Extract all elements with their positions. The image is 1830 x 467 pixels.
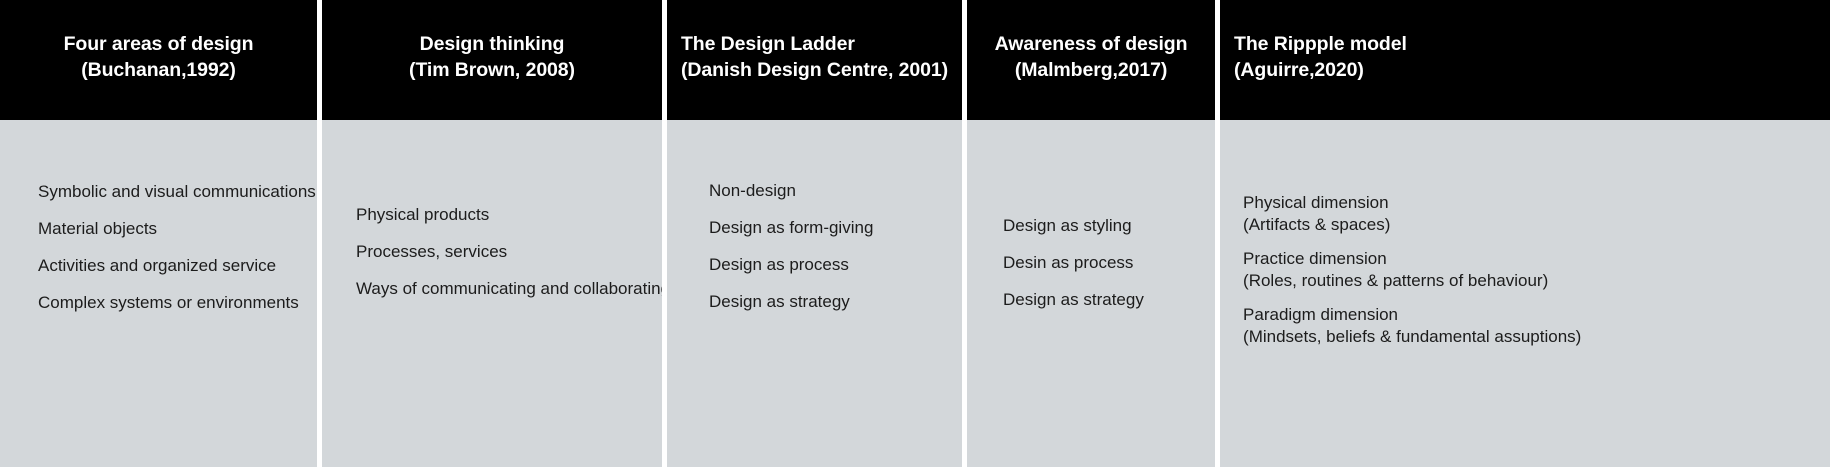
column-the-design-ladder: The Design Ladder (Danish Design Centre,… [667, 0, 962, 467]
list-item-title: Paradigm dimension [1243, 304, 1581, 326]
list-item: Non-design [709, 180, 796, 202]
column-header-the-rippple-model: The Rippple model (Aguirre,2020) [1220, 0, 1830, 120]
list-item: Desin as process [1003, 252, 1133, 274]
list-item-title: Physical dimension [1243, 192, 1390, 214]
column-four-areas-of-design: Four areas of design (Buchanan,1992) Sym… [0, 0, 317, 467]
column-header-four-areas-of-design: Four areas of design (Buchanan,1992) [0, 0, 317, 120]
column-header-the-design-ladder: The Design Ladder (Danish Design Centre,… [667, 0, 962, 120]
list-item: Material objects [38, 218, 157, 240]
column-header-title: Design thinking [420, 32, 565, 58]
column-body-four-areas-of-design: Symbolic and visual communications Mater… [0, 120, 317, 467]
list-item: Design as form-giving [709, 217, 873, 239]
list-item: Physical dimension (Artifacts & spaces) [1243, 192, 1390, 237]
list-item: Practice dimension (Roles, routines & pa… [1243, 248, 1548, 293]
list-item: Physical products [356, 204, 489, 226]
column-header-design-thinking: Design thinking (Tim Brown, 2008) [322, 0, 662, 120]
list-item: Processes, services [356, 241, 507, 263]
column-header-source: (Buchanan,1992) [81, 58, 236, 84]
list-item: Symbolic and visual communications [38, 181, 316, 203]
list-item-detail: (Artifacts & spaces) [1243, 214, 1390, 236]
column-body-design-thinking: Physical products Processes, services Wa… [322, 120, 662, 467]
column-header-title: The Design Ladder [681, 32, 855, 58]
column-header-source: (Aguirre,2020) [1234, 58, 1364, 84]
column-design-thinking: Design thinking (Tim Brown, 2008) Physic… [322, 0, 662, 467]
list-item: Design as strategy [709, 291, 850, 313]
list-item-detail: (Roles, routines & patterns of behaviour… [1243, 270, 1548, 292]
list-item: Design as process [709, 254, 849, 276]
column-body-the-design-ladder: Non-design Design as form-giving Design … [667, 120, 962, 467]
column-the-rippple-model: The Rippple model (Aguirre,2020) Physica… [1220, 0, 1830, 467]
column-body-the-rippple-model: Physical dimension (Artifacts & spaces) … [1220, 120, 1830, 467]
list-item: Activities and organized service [38, 255, 276, 277]
column-awareness-of-design: Awareness of design (Malmberg,2017) Desi… [967, 0, 1215, 467]
column-header-source: (Malmberg,2017) [1015, 58, 1167, 84]
list-item: Paradigm dimension (Mindsets, beliefs & … [1243, 304, 1581, 349]
column-header-awareness-of-design: Awareness of design (Malmberg,2017) [967, 0, 1215, 120]
column-header-source: (Danish Design Centre, 2001) [681, 58, 948, 84]
column-header-source: (Tim Brown, 2008) [409, 58, 575, 84]
column-header-title: Four areas of design [64, 32, 254, 58]
column-header-title: Awareness of design [995, 32, 1188, 58]
list-item: Design as strategy [1003, 289, 1144, 311]
list-item-title: Practice dimension [1243, 248, 1548, 270]
list-item-detail: (Mindsets, beliefs & fundamental assupti… [1243, 326, 1581, 348]
list-item: Ways of communicating and collaborating [356, 278, 662, 300]
column-header-title: The Rippple model [1234, 32, 1407, 58]
list-item: Complex systems or environments [38, 292, 299, 314]
column-body-awareness-of-design: Design as styling Desin as process Desig… [967, 120, 1215, 467]
comparison-table: Four areas of design (Buchanan,1992) Sym… [0, 0, 1830, 467]
list-item: Design as styling [1003, 215, 1132, 237]
